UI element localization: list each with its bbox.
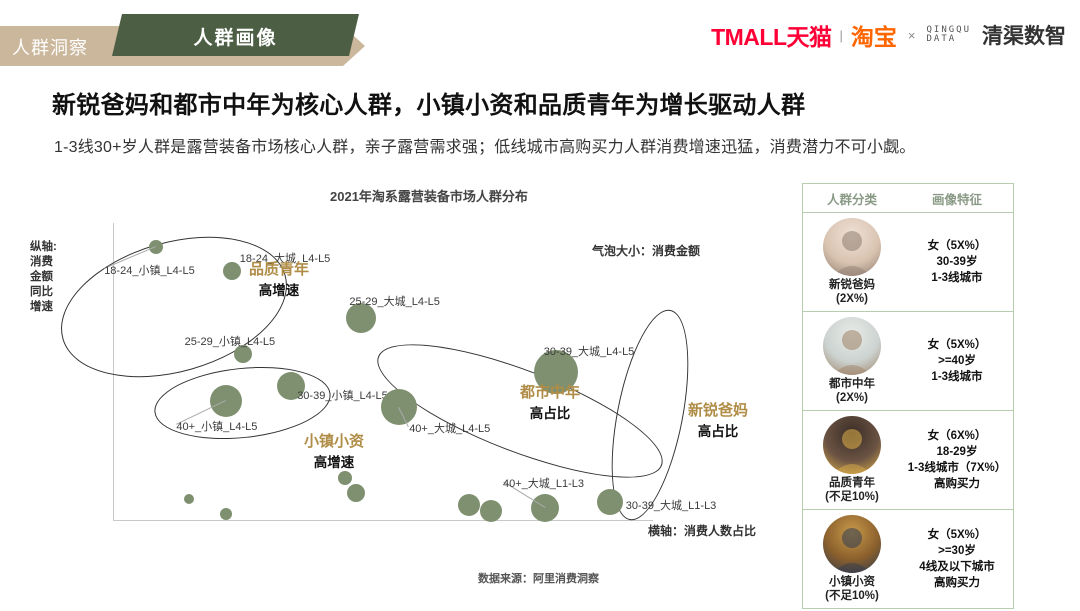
table-header-cell: 画像特征: [901, 184, 1013, 213]
persona-cell: 都市中年(2X%): [803, 312, 901, 410]
nav-tab-profile-active[interactable]: 人群画像: [112, 23, 359, 50]
feature-list: 女（6X%）18-29岁1-3线城市（7X%）高购买力: [908, 428, 1006, 492]
y-axis-label-line: 金额: [30, 270, 90, 285]
avatar: [823, 515, 881, 573]
persona-name: 都市中年: [829, 377, 875, 391]
data-point-label: 18-24_小镇_L4-L5: [104, 262, 195, 278]
tmall-logo: TMALL天猫: [711, 18, 831, 52]
persona-share: (2X%): [836, 292, 868, 306]
feature-item: 4线及以下城市: [919, 559, 994, 575]
cluster-annotation: 小镇小资高增速: [304, 430, 364, 471]
feature-list: 女（5X%）30-39岁1-3线城市: [928, 238, 987, 286]
cross-icon: ×: [908, 28, 916, 43]
brand-logos: TMALL天猫 | 淘宝 × QINGQU DATA 清渠数智: [711, 18, 1066, 52]
data-point-label: 40+_小镇_L4-L5: [176, 418, 257, 434]
qingqu-line2: DATA: [926, 35, 971, 44]
data-bubble: [531, 494, 559, 522]
cluster-annotation: 新锐爸妈高占比: [688, 399, 748, 440]
x-axis-line: [113, 520, 653, 521]
feature-item: 30-39岁: [928, 254, 987, 270]
feature-item: 高购买力: [919, 575, 994, 591]
nav-tab-insight[interactable]: 人群洞察: [12, 34, 88, 60]
cluster-name: 小镇小资: [304, 430, 364, 451]
persona-name: 小镇小资: [829, 575, 875, 589]
data-bubble-minor: [338, 471, 352, 485]
feature-item: 高购买力: [908, 476, 1006, 492]
bubble-size-legend: 气泡大小：消费金额: [592, 242, 700, 259]
features-cell: 女（6X%）18-29岁1-3线城市（7X%）高购买力: [901, 411, 1013, 509]
avatar: [823, 317, 881, 375]
data-bubble: [597, 489, 623, 515]
table-header-cell: 人群分类: [803, 184, 901, 213]
feature-item: 女（5X%）: [928, 238, 987, 254]
data-point-label: 25-29_小镇_L4-L5: [185, 333, 276, 349]
table-header-label: 人群分类: [805, 189, 899, 208]
table-row: 品质青年(不足10%)女（6X%）18-29岁1-3线城市（7X%）高购买力: [803, 411, 1013, 510]
feature-item: 女（6X%）: [908, 428, 1006, 444]
persona-table: 人群分类画像特征新锐爸妈(2X%)女（5X%）30-39岁1-3线城市都市中年(…: [802, 183, 1014, 609]
persona-name: 新锐爸妈: [829, 278, 875, 292]
feature-item: >=30岁: [919, 543, 994, 559]
data-point-label: 30-39_小镇_L4-L5: [297, 387, 388, 403]
cluster-tag: 高增速: [304, 451, 364, 471]
cluster-name: 都市中年: [520, 381, 580, 402]
data-source: 数据来源：阿里消费洞察: [478, 570, 599, 586]
features-cell: 女（5X%）30-39岁1-3线城市: [901, 213, 1013, 311]
feature-item: 18-29岁: [908, 444, 1006, 460]
persona-share: (2X%): [836, 391, 868, 405]
persona-cell: 品质青年(不足10%): [803, 411, 901, 509]
cluster-name: 新锐爸妈: [688, 399, 748, 420]
feature-item: 女（5X%）: [919, 527, 994, 543]
table-row: 小镇小资(不足10%)女（5X%）>=30岁4线及以下城市高购买力: [803, 510, 1013, 608]
data-point-label: 40+_大城_L1-L3: [503, 475, 584, 491]
data-point-label: 30-39_大城_L4-L5: [544, 343, 635, 359]
table-row: 都市中年(2X%)女（5X%）>=40岁1-3线城市: [803, 312, 1013, 411]
x-axis-label: 横轴：消费人数占比: [648, 522, 756, 539]
data-bubble-minor: [184, 494, 194, 504]
qingqu-logo-cn: 清渠数智: [982, 20, 1066, 50]
table-header-row: 人群分类画像特征: [803, 184, 1013, 213]
persona-cell: 新锐爸妈(2X%): [803, 213, 901, 311]
scatter-chart: 纵轴:消费金额同比增速 横轴：消费人数占比 气泡大小：消费金额 18-24_小镇…: [0, 170, 800, 550]
feature-item: 1-3线城市: [928, 270, 987, 286]
table-header-label: 画像特征: [903, 189, 1011, 208]
data-bubble-minor: [458, 494, 480, 516]
cluster-tag: 高占比: [520, 402, 580, 422]
persona-share: (不足10%): [825, 589, 879, 603]
feature-list: 女（5X%）>=40岁1-3线城市: [928, 337, 987, 385]
data-point-label: 30-39_大城_L1-L3: [626, 497, 717, 513]
data-bubble-minor: [480, 500, 502, 522]
cluster-annotation: 品质青年高增速: [249, 258, 309, 299]
data-bubble-minor: [220, 508, 232, 520]
cluster-tag: 高增速: [249, 279, 309, 299]
table-row: 新锐爸妈(2X%)女（5X%）30-39岁1-3线城市: [803, 213, 1013, 312]
data-point-label: 25-29_大城_L4-L5: [349, 293, 440, 309]
feature-item: >=40岁: [928, 353, 987, 369]
persona-name: 品质青年: [829, 476, 875, 490]
data-point-label: 40+_大城_L4-L5: [409, 420, 490, 436]
y-axis-label-line: 纵轴:: [30, 240, 90, 255]
feature-item: 女（5X%）: [928, 337, 987, 353]
persona-share: (不足10%): [825, 490, 879, 504]
cluster-annotation: 都市中年高占比: [520, 381, 580, 422]
feature-item: 1-3线城市: [928, 369, 987, 385]
data-bubble: [223, 262, 241, 280]
persona-cell: 小镇小资(不足10%): [803, 510, 901, 608]
avatar: [823, 218, 881, 276]
slide-root: 人群洞察 人群画像 TMALL天猫 | 淘宝 × QINGQU DATA 清渠数…: [0, 0, 1080, 611]
qingqu-data-logo: QINGQU DATA: [926, 26, 971, 44]
features-cell: 女（5X%）>=40岁1-3线城市: [901, 312, 1013, 410]
data-bubble-minor: [347, 484, 365, 502]
page-title: 新锐爸妈和都市中年为核心人群，小镇小资和品质青年为增长驱动人群: [52, 85, 805, 120]
feature-item: 1-3线城市（7X%）: [908, 460, 1006, 476]
page-subtitle: 1-3线30+岁人群是露营装备市场核心人群，亲子露营需求强；低线城市高购买力人群…: [54, 133, 915, 157]
features-cell: 女（5X%）>=30岁4线及以下城市高购买力: [901, 510, 1013, 608]
feature-list: 女（5X%）>=30岁4线及以下城市高购买力: [919, 527, 994, 591]
cluster-name: 品质青年: [249, 258, 309, 279]
logo-separator: |: [840, 28, 843, 43]
cluster-tag: 高占比: [688, 420, 748, 440]
y-axis-label-line: 消费: [30, 255, 90, 270]
taobao-logo: 淘宝: [851, 18, 897, 52]
avatar: [823, 416, 881, 474]
